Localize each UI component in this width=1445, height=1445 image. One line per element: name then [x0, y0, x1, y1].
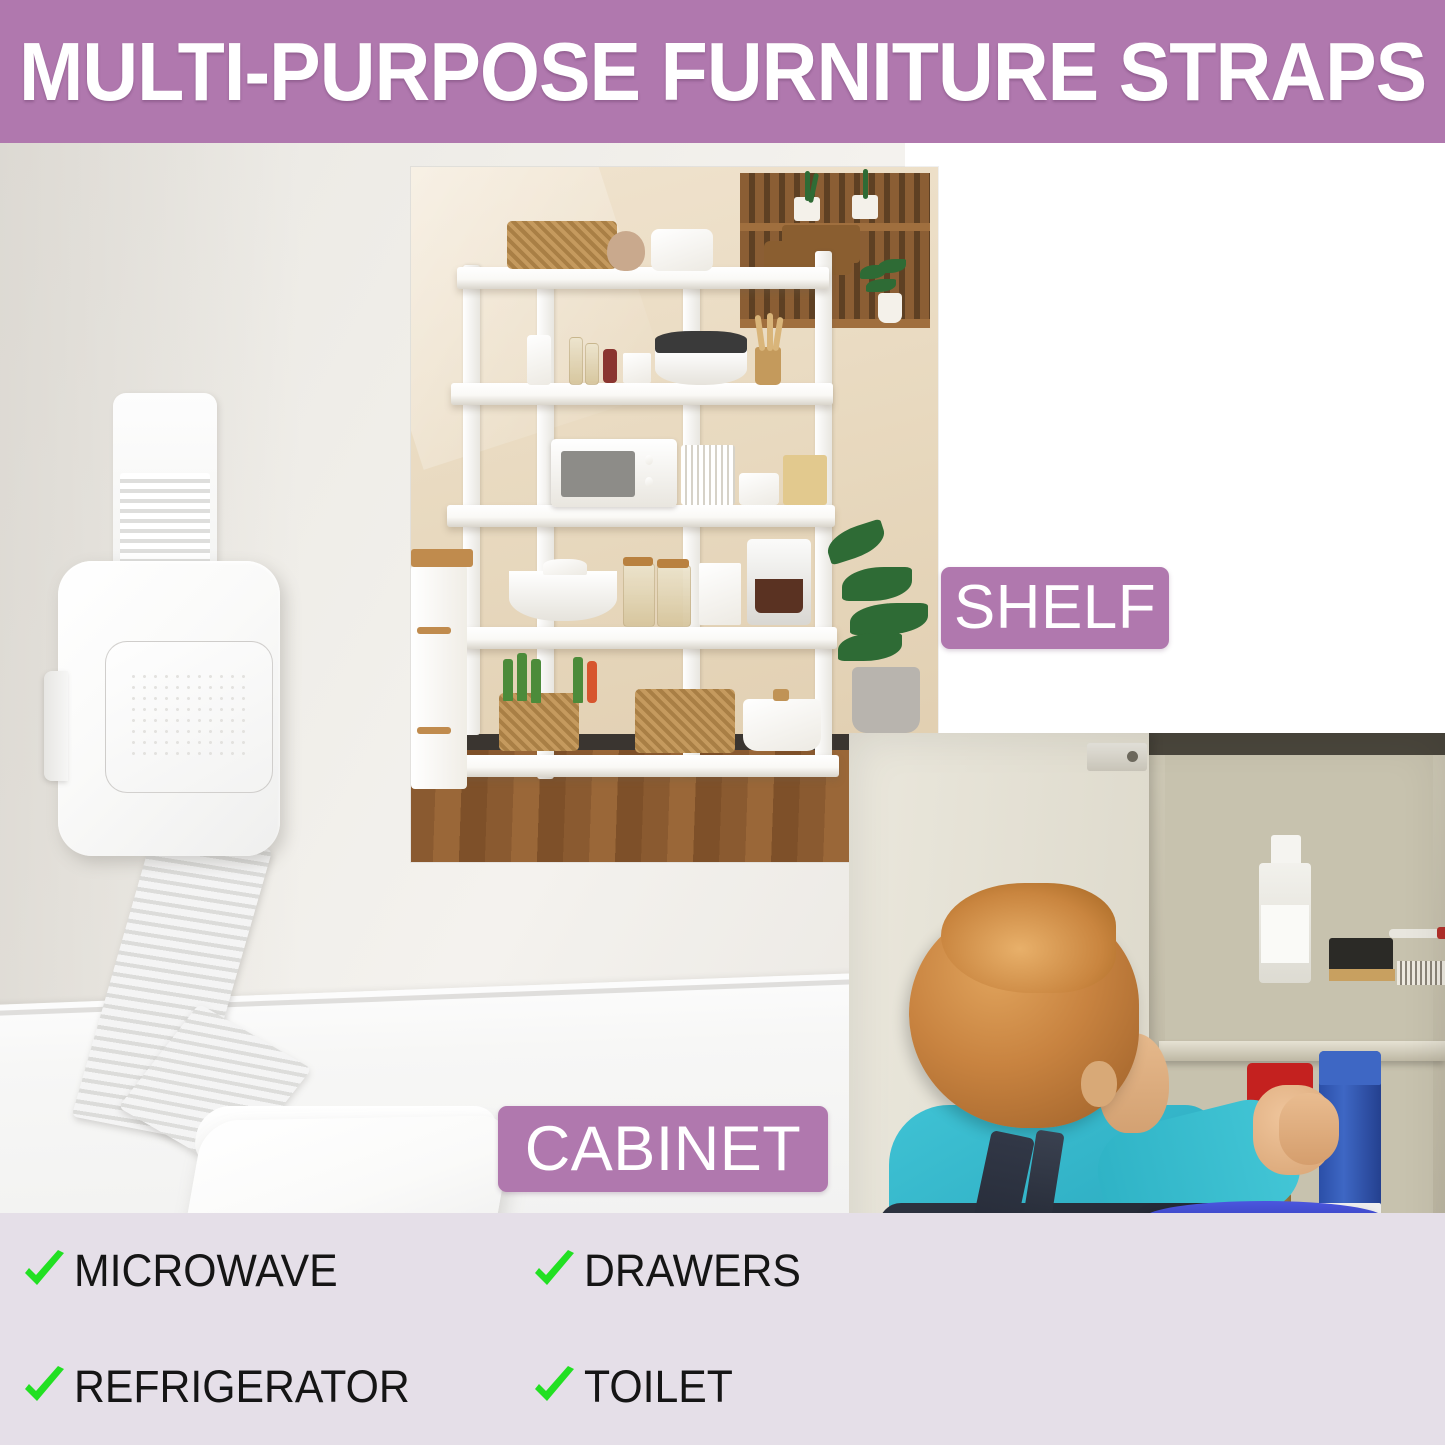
check-icon [20, 1247, 68, 1295]
feature-label-refrigerator: REFRIGERATOR [74, 1361, 410, 1413]
small-plant [856, 259, 916, 329]
badge-shelf: SHELF [941, 567, 1169, 649]
casserole-lid [543, 559, 587, 575]
shelf-board-2 [451, 383, 833, 405]
base-pad [175, 1115, 515, 1213]
red-box [603, 349, 617, 383]
feature-item-drawers: DRAWERS [520, 1245, 845, 1297]
side-cabinet-top [411, 549, 473, 567]
badge-shelf-label: SHELF [954, 577, 1156, 639]
cook-pot-lid [655, 331, 747, 353]
check-icon [530, 1247, 578, 1295]
side-cabinet [411, 565, 467, 789]
storage-jar-b [657, 565, 691, 627]
microwave-knob-a [645, 455, 653, 465]
coffee-carafe [755, 579, 803, 613]
cook-pot [655, 349, 747, 385]
photo-collage: SHELF CABINET [0, 143, 1445, 1213]
slim-jar-a [569, 337, 583, 385]
floor-planter [852, 667, 920, 733]
shelf-board-1 [457, 267, 829, 289]
buckle-texture-dots [128, 671, 246, 763]
feature-band: MICROWAVE DRAWERS REFRIGERATOR TOILET [0, 1213, 1445, 1445]
feature-list: MICROWAVE DRAWERS REFRIGERATOR TOILET [0, 1213, 845, 1445]
check-icon [530, 1363, 578, 1411]
white-canister [651, 229, 713, 271]
white-pot-knob [773, 689, 789, 701]
snack-box [783, 455, 827, 505]
check-icon [20, 1363, 68, 1411]
leek-c [531, 659, 541, 703]
shelf-board-3 [447, 505, 835, 527]
dish-rack [681, 445, 735, 505]
white-casserole [509, 571, 617, 621]
buckle-release-tab [44, 671, 68, 781]
feature-label-toilet: TOILET [584, 1361, 733, 1413]
product-poster: MULTI-PURPOSE FURNITURE STRAPS [0, 0, 1445, 1445]
storage-jar-lid-b [657, 559, 689, 568]
header-banner: MULTI-PURPOSE FURNITURE STRAPS [0, 0, 1445, 143]
ceramic-vase [607, 231, 645, 271]
feature-item-refrigerator: REFRIGERATOR [0, 1361, 520, 1413]
badge-cabinet: CABINET [498, 1106, 828, 1192]
shelf-board-4 [441, 627, 837, 649]
shelf-board-5 [435, 755, 839, 777]
side-cabinet-handle-b [417, 727, 451, 734]
microwave-knob-b [645, 477, 653, 487]
badge-cabinet-label: CABINET [525, 1118, 802, 1181]
storage-basket [635, 689, 735, 753]
bowl-stack [739, 473, 779, 505]
feature-label-drawers: DRAWERS [584, 1245, 801, 1297]
carrot [587, 661, 597, 703]
microwave-door [561, 451, 635, 497]
spray-bottle [527, 335, 551, 385]
small-carton [623, 353, 651, 383]
side-cabinet-handle-a [417, 627, 451, 634]
white-pot [743, 699, 821, 751]
photo-vignette [849, 733, 1445, 1213]
storage-jar-lid-a [623, 557, 653, 566]
feature-item-toilet: TOILET [520, 1361, 845, 1413]
leek-d [573, 657, 583, 703]
plant-leaf-c [863, 169, 868, 199]
feature-item-microwave: MICROWAVE [0, 1245, 520, 1297]
storage-jar-a [623, 563, 655, 627]
slim-jar-b [585, 343, 599, 385]
wicker-basket-top [507, 221, 617, 269]
leek-b [517, 653, 527, 701]
child-at-cabinet-photo [849, 733, 1445, 1213]
feature-label-microwave: MICROWAVE [74, 1245, 338, 1297]
leek-a [503, 659, 513, 701]
utensil-holder [755, 347, 781, 385]
page-title: MULTI-PURPOSE FURNITURE STRAPS [19, 30, 1426, 113]
cereal-box [699, 563, 741, 625]
